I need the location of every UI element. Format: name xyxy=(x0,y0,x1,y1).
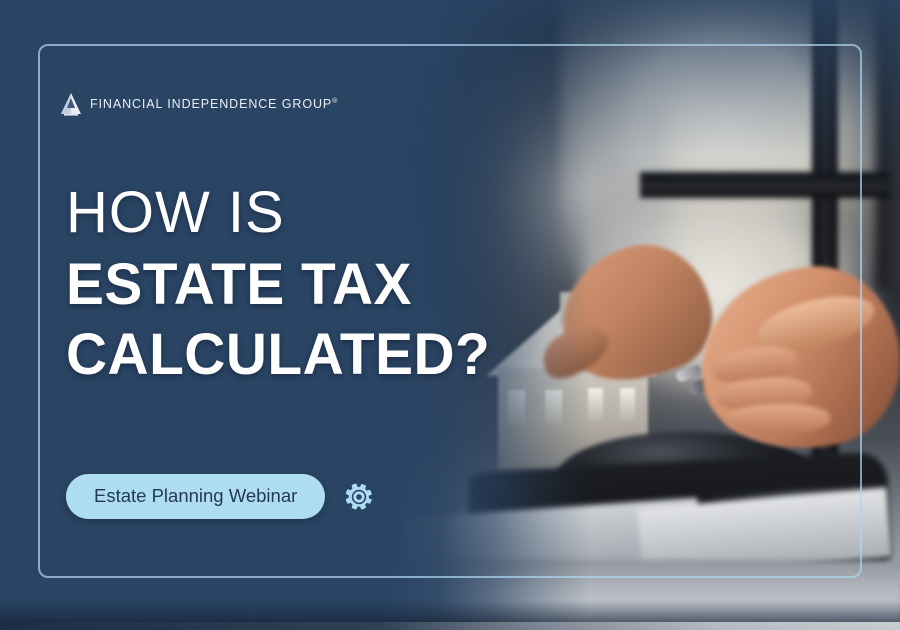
cta-row: Estate Planning Webinar xyxy=(66,474,375,519)
mountain-triangle-icon xyxy=(60,92,82,116)
gear-icon[interactable] xyxy=(343,481,375,513)
headline-block: HOW IS ESTATE TAX CALCULATED? xyxy=(66,182,499,390)
model-house-window xyxy=(620,388,635,420)
brand-logo[interactable]: FINANCIAL INDEPENDENCE GROUP® xyxy=(60,92,337,116)
window-mullion-horizontal xyxy=(640,172,890,198)
headline-line-1: HOW IS xyxy=(66,182,499,244)
banner-canvas: FINANCIAL INDEPENDENCE GROUP® HOW IS EST… xyxy=(0,0,900,630)
model-house-window xyxy=(508,390,525,424)
model-house-window xyxy=(588,388,603,420)
registered-mark: ® xyxy=(332,98,337,105)
headline-line-2: ESTATE TAX xyxy=(66,250,490,320)
desk-surface xyxy=(380,560,900,630)
window-mullion-vertical-right xyxy=(876,0,900,290)
headline-line-3: CALCULATED? xyxy=(66,320,490,390)
estate-planning-webinar-button[interactable]: Estate Planning Webinar xyxy=(66,474,325,519)
model-house-window xyxy=(545,390,562,424)
bottom-edge-strip xyxy=(0,622,900,630)
brand-name: FINANCIAL INDEPENDENCE GROUP® xyxy=(90,97,337,111)
